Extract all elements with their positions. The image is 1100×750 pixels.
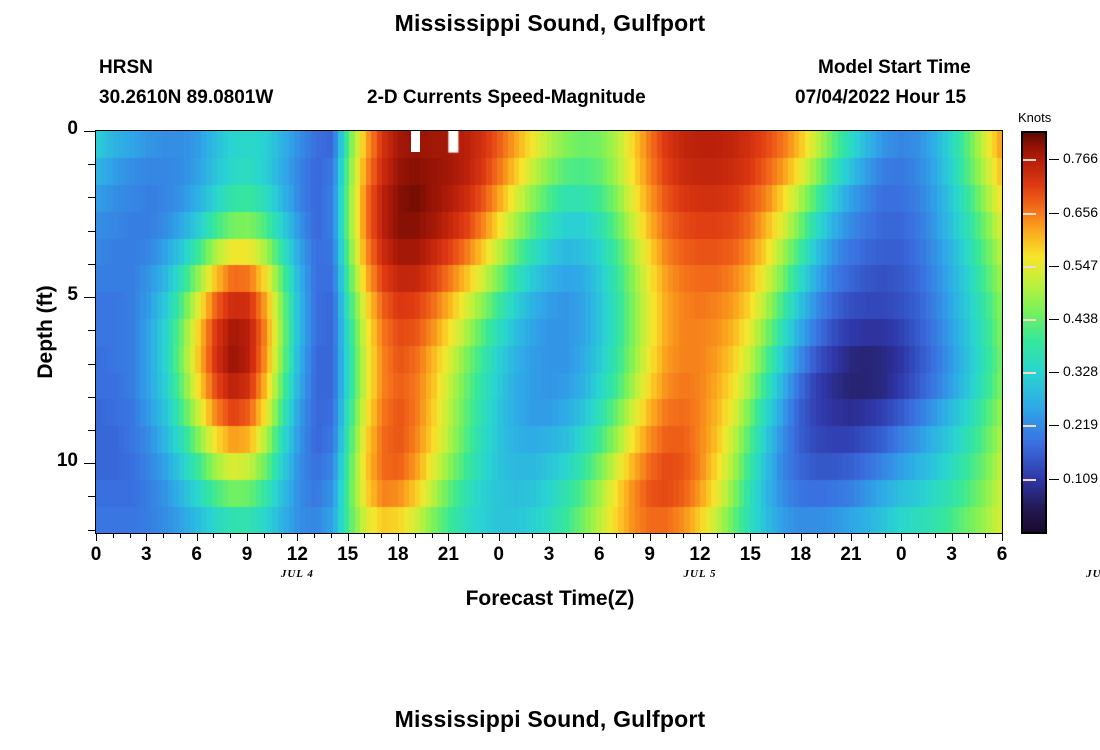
- y-axis-minor-tick: [88, 330, 95, 331]
- x-axis-minor-tick: [767, 534, 768, 538]
- y-axis-minor-tick: [88, 231, 95, 232]
- colorbar-inner-tick: [1023, 213, 1036, 215]
- x-axis-minor-tick: [968, 534, 969, 538]
- colorbar-tick-label: 0.219: [1063, 416, 1100, 432]
- x-axis-tick-label: 12: [680, 544, 720, 566]
- x-axis-minor-tick: [482, 534, 483, 538]
- x-axis-tick-label: 6: [177, 544, 217, 566]
- station-id-label: HRSN: [99, 57, 153, 79]
- x-axis-tick: [348, 534, 349, 541]
- bottom-page-title: Mississippi Sound, Gulfport: [0, 706, 1100, 733]
- x-axis-tick-label: 21: [428, 544, 468, 566]
- x-axis-tick: [901, 534, 902, 541]
- x-axis-tick: [700, 534, 701, 541]
- x-axis-minor-tick: [213, 534, 214, 538]
- x-axis-minor-tick: [784, 534, 785, 538]
- x-axis-minor-tick: [583, 534, 584, 538]
- x-axis-minor-tick: [264, 534, 265, 538]
- y-axis-major-tick: [84, 131, 95, 132]
- heatmap-plot-area: [95, 130, 1003, 534]
- x-axis-minor-tick: [868, 534, 869, 538]
- colorbar-tick-label: 0.547: [1063, 257, 1100, 273]
- x-axis-minor-tick: [381, 534, 382, 538]
- y-axis-minor-tick: [88, 530, 95, 531]
- colorbar-tick-label: 0.328: [1063, 363, 1100, 379]
- x-axis-tick-label: 9: [630, 544, 670, 566]
- x-axis-tick-label: 0: [881, 544, 921, 566]
- x-axis-minor-tick: [616, 534, 617, 538]
- model-start-time-label: Model Start Time: [818, 57, 971, 79]
- colorbar-outer-tick: [1049, 479, 1059, 480]
- x-axis-minor-tick: [163, 534, 164, 538]
- plot-subtitle: 2-D Currents Speed-Magnitude: [367, 87, 646, 109]
- x-axis-minor-tick: [985, 534, 986, 538]
- colorbar-outer-tick: [1049, 319, 1059, 320]
- x-axis-tick-label: 0: [76, 544, 116, 566]
- y-axis-minor-tick: [88, 430, 95, 431]
- x-axis-tick-label: 15: [328, 544, 368, 566]
- x-axis-minor-tick: [532, 534, 533, 538]
- x-axis-tick-label: 6: [579, 544, 619, 566]
- x-axis-minor-tick: [566, 534, 567, 538]
- x-axis-minor-tick: [314, 534, 315, 538]
- x-axis-minor-tick: [432, 534, 433, 538]
- colorbar-inner-tick: [1023, 479, 1036, 481]
- x-axis-tick: [599, 534, 600, 541]
- x-axis-minor-tick: [113, 534, 114, 538]
- y-axis-minor-tick: [88, 264, 95, 265]
- no-data-gap-marker: [411, 131, 420, 152]
- x-axis-tick-label: 12: [277, 544, 317, 566]
- x-axis-title: Forecast Time(Z): [0, 587, 1100, 611]
- heatmap-canvas: [96, 131, 1002, 533]
- y-axis-minor-tick: [88, 496, 95, 497]
- y-axis-minor-tick: [88, 397, 95, 398]
- x-axis-tick: [549, 534, 550, 541]
- x-axis-minor-tick: [331, 534, 332, 538]
- x-axis-minor-tick: [364, 534, 365, 538]
- x-axis-minor-tick: [817, 534, 818, 538]
- y-axis-minor-tick: [88, 197, 95, 198]
- colorbar-outer-tick: [1049, 266, 1059, 267]
- x-axis-tick-label: 3: [932, 544, 972, 566]
- x-axis-tick: [1002, 534, 1003, 541]
- x-axis-tick-label: 0: [479, 544, 519, 566]
- colorbar-outer-tick: [1049, 425, 1059, 426]
- x-axis-tick: [952, 534, 953, 541]
- x-axis-minor-tick: [666, 534, 667, 538]
- x-axis-minor-tick: [465, 534, 466, 538]
- x-axis-day-label: JUL 5: [660, 568, 740, 580]
- x-axis-minor-tick: [230, 534, 231, 538]
- x-axis-tick-label: 9: [227, 544, 267, 566]
- x-axis-day-label: JUL 4: [257, 568, 337, 580]
- colorbar-tick-label: 0.766: [1063, 150, 1100, 166]
- x-axis-minor-tick: [415, 534, 416, 538]
- x-axis-tick: [398, 534, 399, 541]
- x-axis-tick: [247, 534, 248, 541]
- x-axis-minor-tick: [734, 534, 735, 538]
- y-axis-minor-tick: [88, 364, 95, 365]
- x-axis-minor-tick: [281, 534, 282, 538]
- x-axis-tick: [197, 534, 198, 541]
- y-axis-title: Depth (ft): [34, 232, 58, 432]
- x-axis-tick-label: 21: [831, 544, 871, 566]
- colorbar-outer-tick: [1049, 213, 1059, 214]
- x-axis-minor-tick: [633, 534, 634, 538]
- x-axis-tick: [297, 534, 298, 541]
- colorbar-canvas: [1023, 133, 1045, 532]
- x-axis-tick: [801, 534, 802, 541]
- x-axis-tick: [750, 534, 751, 541]
- x-axis-tick-label: 6: [982, 544, 1022, 566]
- x-axis-minor-tick: [180, 534, 181, 538]
- colorbar-title: Knots: [1018, 110, 1051, 125]
- x-axis-tick: [146, 534, 147, 541]
- x-axis-tick-label: 3: [529, 544, 569, 566]
- model-start-time-value: 07/04/2022 Hour 15: [795, 87, 966, 109]
- colorbar-tick-label: 0.109: [1063, 470, 1100, 486]
- colorbar-outer-tick: [1049, 159, 1059, 160]
- x-axis-minor-tick: [130, 534, 131, 538]
- y-axis-tick-label: 0: [20, 118, 78, 140]
- y-axis-minor-tick: [88, 164, 95, 165]
- x-axis-tick-label: 18: [378, 544, 418, 566]
- y-axis-tick-label: 10: [20, 450, 78, 472]
- x-axis-minor-tick: [834, 534, 835, 538]
- colorbar-inner-tick: [1023, 266, 1036, 268]
- x-axis-tick: [650, 534, 651, 541]
- x-axis-tick-label: 3: [126, 544, 166, 566]
- x-axis-minor-tick: [515, 534, 516, 538]
- x-axis-minor-tick: [683, 534, 684, 538]
- colorbar: [1021, 131, 1047, 534]
- x-axis-tick: [448, 534, 449, 541]
- colorbar-inner-tick: [1023, 372, 1036, 374]
- x-axis-tick: [851, 534, 852, 541]
- x-axis-tick: [96, 534, 97, 541]
- x-axis-minor-tick: [717, 534, 718, 538]
- x-axis-tick: [499, 534, 500, 541]
- x-axis-tick-label: 18: [781, 544, 821, 566]
- x-axis-minor-tick: [885, 534, 886, 538]
- station-coordinates-label: 30.2610N 89.0801W: [99, 87, 273, 109]
- page-title: Mississippi Sound, Gulfport: [0, 10, 1100, 37]
- colorbar-inner-tick: [1023, 425, 1036, 427]
- y-axis-major-tick: [84, 297, 95, 298]
- colorbar-tick-label: 0.656: [1063, 204, 1100, 220]
- colorbar-inner-tick: [1023, 159, 1036, 161]
- colorbar-tick-label: 0.438: [1063, 310, 1100, 326]
- x-axis-tick-label: 15: [730, 544, 770, 566]
- colorbar-outer-tick: [1049, 372, 1059, 373]
- x-axis-minor-tick: [935, 534, 936, 538]
- x-axis-minor-tick: [918, 534, 919, 538]
- x-axis-day-label: JUL 6: [1063, 568, 1100, 580]
- colorbar-inner-tick: [1023, 319, 1036, 321]
- y-axis-major-tick: [84, 463, 95, 464]
